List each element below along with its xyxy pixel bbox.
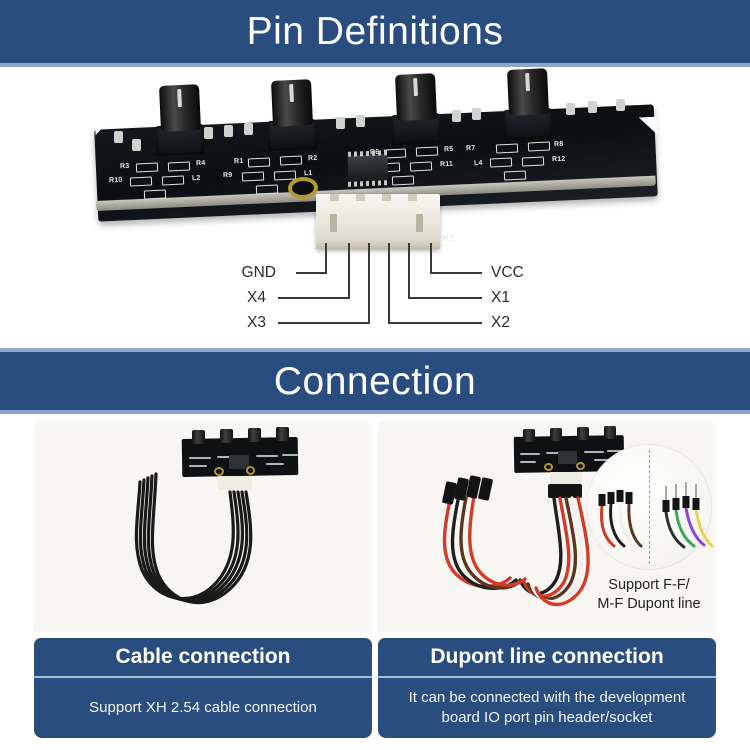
solder-pin — [132, 139, 141, 151]
smd-pad — [130, 177, 152, 187]
pin-label-vcc: VCC — [491, 264, 524, 282]
silkscreen-r9: R9 — [223, 172, 233, 179]
silkscreen-r11: R11 — [440, 161, 453, 169]
leader-vcc-vertical — [430, 243, 432, 273]
solder-pin — [452, 110, 461, 122]
support-note-line1: Support F-F/ — [608, 577, 689, 593]
pin-definitions-title: Pin Definitions — [247, 12, 504, 51]
silkscreen-r1: R1 — [234, 158, 244, 165]
photo-dupont-connection: Support F-F/ M-F Dupont line — [378, 420, 716, 632]
potentiometer-knob-4[interactable] — [507, 68, 549, 116]
solder-pin — [616, 99, 625, 111]
potentiometer-knob-1[interactable] — [159, 84, 201, 132]
leader-x2-vertical — [388, 243, 390, 323]
smd-pad — [522, 157, 544, 167]
silkscreen-k1: K1 — [443, 233, 455, 244]
connector-notch — [408, 194, 417, 201]
solder-pin — [356, 115, 365, 127]
silkscreen-r10: R10 — [109, 177, 123, 185]
smd-pad — [504, 171, 526, 181]
silkscreen-r7: R7 — [466, 145, 476, 152]
leader-gnd-vertical — [325, 243, 327, 273]
solder-pin — [244, 123, 253, 135]
silkscreen-r12: R12 — [552, 156, 566, 164]
connector-latch-slot — [330, 214, 337, 232]
connection-title: Connection — [274, 362, 476, 401]
smd-pad — [136, 163, 158, 173]
pin-label-gnd: GND — [166, 264, 276, 282]
smd-pad — [248, 158, 270, 168]
leader-x4-vertical — [348, 243, 350, 298]
xh-connector-k1[interactable] — [316, 194, 440, 249]
leader-x1-vertical — [408, 243, 410, 298]
leader-x2-horizontal — [388, 322, 482, 324]
silkscreen-l4: L4 — [474, 160, 483, 167]
silkscreen-r8: R8 — [554, 141, 564, 148]
card-dupont-connection[interactable]: Support F-F/ M-F Dupont line Dupont line… — [378, 420, 716, 744]
solder-pin — [224, 125, 233, 137]
smd-pad — [528, 142, 550, 152]
ribbon-cable — [34, 420, 372, 632]
pin-label-x4: X4 — [166, 289, 266, 307]
pin-label-x2: X2 — [491, 314, 510, 332]
pin-definitions-infographic: Pin Definitions — [0, 0, 750, 750]
smd-pad — [280, 156, 302, 166]
smd-pad — [416, 147, 438, 157]
pin-label-x3: X3 — [166, 314, 266, 332]
support-note: Support F-F/ M-F Dupont line — [586, 576, 712, 614]
smd-pad — [410, 162, 432, 172]
support-note-line2: M-F Dupont line — [597, 596, 700, 612]
leader-gnd-horizontal — [296, 272, 327, 274]
connector-latch-slot — [416, 214, 423, 232]
silkscreen-r3: R3 — [120, 163, 130, 170]
smd-pad — [242, 172, 264, 182]
pin-label-x1: X1 — [491, 289, 510, 307]
connector-notch — [382, 194, 391, 201]
leader-x1-horizontal — [408, 297, 482, 299]
leader-vcc-horizontal — [430, 272, 482, 274]
pin-definitions-figure: R3 R4 R10 L2 R1 R2 R9 L1 R6 R5 R7 R8 L3 … — [0, 67, 750, 348]
smd-pad — [392, 176, 414, 186]
leader-x3-horizontal — [278, 322, 370, 324]
solder-pin — [566, 103, 575, 115]
silkscreen-r4: R4 — [196, 160, 206, 167]
solder-pin — [472, 108, 481, 120]
silkscreen-r2: R2 — [308, 155, 318, 162]
section-header-connection: Connection — [0, 352, 750, 410]
smd-pad — [496, 144, 518, 154]
caption-title-cable: Cable connection — [34, 638, 372, 676]
smd-pad — [144, 190, 166, 200]
ic-chip — [347, 154, 388, 182]
leader-x3-vertical — [368, 243, 370, 323]
connector-notch — [356, 194, 365, 201]
potentiometer-knob-3[interactable] — [395, 73, 437, 121]
caption-body-cable: Support XH 2.54 cable connection — [34, 678, 372, 738]
card-cable-connection[interactable]: Cable connection Support XH 2.54 cable c… — [34, 420, 372, 744]
solder-pin — [336, 117, 345, 129]
connector-lip — [316, 240, 440, 249]
section-header-pin-definitions: Pin Definitions — [0, 0, 750, 63]
potentiometer-knob-2[interactable] — [271, 79, 313, 127]
photo-cable-connection — [34, 420, 372, 632]
smd-pad — [168, 162, 190, 172]
solder-pin — [588, 101, 597, 113]
silkscreen-l2: L2 — [192, 175, 201, 182]
leader-x4-horizontal — [278, 297, 350, 299]
silkscreen-r5: R5 — [444, 146, 454, 153]
smd-pad — [490, 158, 512, 168]
smd-pad — [162, 176, 184, 186]
caption-body-dupont: It can be connected with the development… — [378, 678, 716, 738]
connection-cards: Cable connection Support XH 2.54 cable c… — [0, 414, 750, 750]
smd-pad — [256, 185, 278, 195]
solder-pin — [114, 131, 123, 143]
solder-pin — [204, 127, 213, 139]
connector-notch — [330, 194, 339, 201]
caption-title-dupont: Dupont line connection — [378, 638, 716, 676]
